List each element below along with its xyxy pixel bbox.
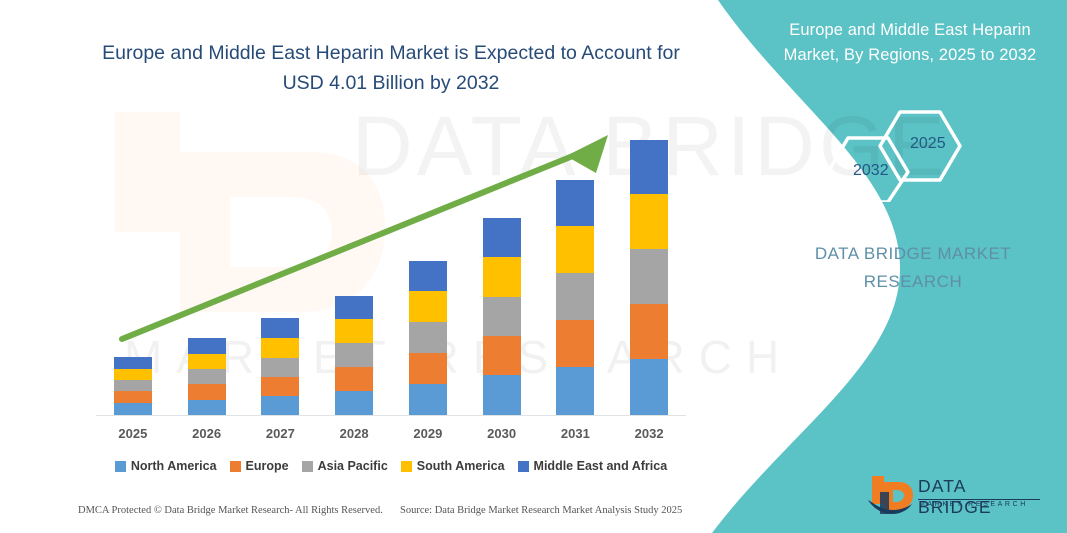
bar-segment xyxy=(188,354,226,369)
bar-segment xyxy=(483,218,521,257)
bar-segment xyxy=(483,297,521,336)
legend-swatch-icon xyxy=(230,461,241,472)
chart-legend: North AmericaEuropeAsia PacificSouth Ame… xyxy=(96,459,686,473)
bar-segment xyxy=(335,391,373,415)
x-axis-line xyxy=(96,415,686,416)
bar-2032 xyxy=(630,140,668,415)
bar-segment xyxy=(188,400,226,415)
bar-segment xyxy=(630,249,668,304)
legend-item[interactable]: Europe xyxy=(230,459,289,473)
x-axis-labels: 20252026202720282029203020312032 xyxy=(96,426,686,446)
bar-segment xyxy=(114,369,152,380)
footer-source: Source: Data Bridge Market Research Mark… xyxy=(400,505,682,516)
bar-2025 xyxy=(114,357,152,415)
panel-title: Europe and Middle East Heparin Market, B… xyxy=(762,18,1058,68)
bar-segment xyxy=(261,338,299,358)
bar-segment xyxy=(114,403,152,415)
legend-swatch-icon xyxy=(401,461,412,472)
footer-copyright: DMCA Protected © Data Bridge Market Rese… xyxy=(78,505,383,516)
bar-segment xyxy=(114,357,152,369)
year-hexagons: 2025 2032 xyxy=(828,104,988,202)
legend-swatch-icon xyxy=(302,461,313,472)
stacked-bar-chart xyxy=(96,125,686,420)
panel-brand-caption: DATA BRIDGE MARKET RESEARCH xyxy=(790,240,1036,296)
x-tick-2030: 2030 xyxy=(472,426,532,441)
bar-2031 xyxy=(556,180,594,415)
logo-divider xyxy=(918,499,1040,500)
bar-segment xyxy=(335,343,373,367)
bar-2029 xyxy=(409,261,447,415)
data-bridge-logo: DATA BRIDGE MARKET RESEARCH xyxy=(866,472,1044,518)
bar-segment xyxy=(409,261,447,291)
bar-segment xyxy=(409,353,447,384)
legend-item[interactable]: North America xyxy=(115,459,217,473)
legend-label: Europe xyxy=(246,459,289,473)
bar-segment xyxy=(556,180,594,226)
hex-label-end: 2032 xyxy=(853,162,889,180)
chart-plot-area xyxy=(96,125,686,416)
legend-label: Asia Pacific xyxy=(318,459,388,473)
legend-item[interactable]: Asia Pacific xyxy=(302,459,388,473)
bar-segment xyxy=(335,319,373,343)
logo-wordmark: DATA BRIDGE xyxy=(918,476,1044,518)
bar-segment xyxy=(630,140,668,194)
x-tick-2028: 2028 xyxy=(324,426,384,441)
bar-segment xyxy=(630,304,668,359)
bar-2028 xyxy=(335,296,373,415)
bar-segment xyxy=(630,194,668,249)
infographic-root: DATA BRIDGE MARKET RESEARCH Europe and M… xyxy=(0,0,1067,533)
bar-segment xyxy=(409,322,447,353)
bar-segment xyxy=(409,384,447,415)
bar-segment xyxy=(261,358,299,377)
bar-segment xyxy=(556,273,594,320)
bar-segment xyxy=(335,367,373,391)
bar-segment xyxy=(114,380,152,391)
logo-subwordmark: MARKET RESEARCH xyxy=(919,501,1028,508)
legend-swatch-icon xyxy=(115,461,126,472)
footer: DMCA Protected © Data Bridge Market Rese… xyxy=(78,505,688,523)
x-tick-2025: 2025 xyxy=(103,426,163,441)
x-tick-2029: 2029 xyxy=(398,426,458,441)
x-tick-2026: 2026 xyxy=(177,426,237,441)
bar-segment xyxy=(630,359,668,415)
bar-segment xyxy=(188,384,226,400)
bar-segment xyxy=(556,320,594,367)
legend-item[interactable]: South America xyxy=(401,459,505,473)
bar-segment xyxy=(261,318,299,338)
bar-segment xyxy=(483,336,521,375)
legend-label: South America xyxy=(417,459,505,473)
bar-segment xyxy=(335,296,373,319)
x-tick-2032: 2032 xyxy=(619,426,679,441)
legend-swatch-icon xyxy=(518,461,529,472)
x-tick-2027: 2027 xyxy=(250,426,310,441)
legend-item[interactable]: Middle East and Africa xyxy=(518,459,668,473)
bar-2030 xyxy=(483,218,521,415)
bar-segment xyxy=(556,367,594,415)
page-title: Europe and Middle East Heparin Market is… xyxy=(96,38,686,98)
bar-2027 xyxy=(261,318,299,415)
bar-segment xyxy=(261,396,299,415)
bar-segment xyxy=(409,291,447,322)
x-tick-2031: 2031 xyxy=(545,426,605,441)
bar-segment xyxy=(188,369,226,384)
bar-segment xyxy=(556,226,594,273)
legend-label: North America xyxy=(131,459,217,473)
bar-segment xyxy=(261,377,299,396)
bar-2026 xyxy=(188,338,226,415)
bar-segment xyxy=(188,338,226,354)
legend-label: Middle East and Africa xyxy=(534,459,668,473)
logo-mark-icon xyxy=(866,474,914,521)
bar-segment xyxy=(114,391,152,403)
bar-segment xyxy=(483,257,521,297)
hex-label-start: 2025 xyxy=(910,135,946,153)
bar-segment xyxy=(483,375,521,415)
